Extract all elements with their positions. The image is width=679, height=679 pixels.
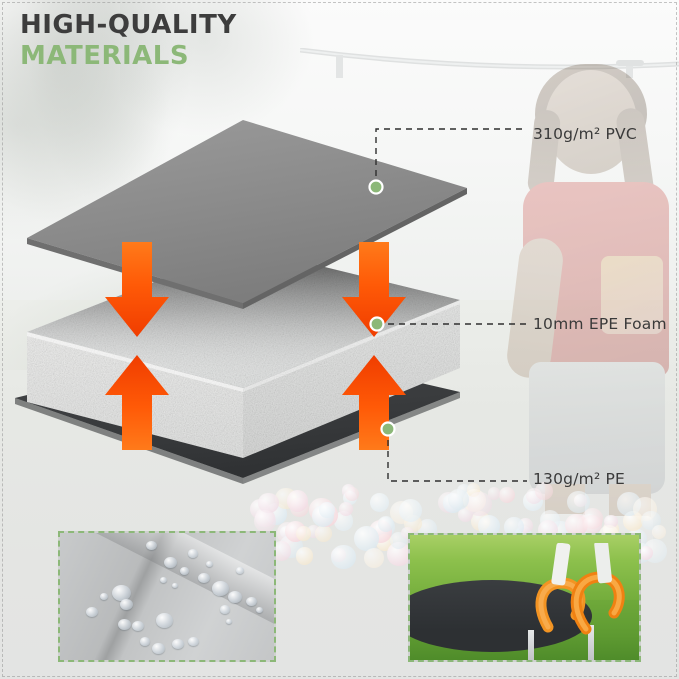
water-droplet	[220, 605, 230, 614]
ball	[652, 525, 666, 539]
ball	[296, 547, 313, 564]
water-droplet	[212, 581, 229, 596]
ball	[331, 545, 355, 569]
water-droplet	[188, 549, 198, 558]
exploded-layer-diagram	[0, 110, 500, 530]
layer-pvc	[27, 120, 467, 309]
title-line-2: MATERIALS	[20, 40, 237, 72]
water-droplet	[180, 567, 189, 575]
water-droplet	[160, 577, 167, 583]
water-droplet	[156, 613, 173, 628]
orange-safety-straps	[528, 543, 638, 635]
water-droplet	[100, 593, 108, 600]
inset-trampoline-grass	[408, 533, 641, 662]
callout-label-pe: 130g/m² PE	[533, 470, 625, 488]
water-droplet	[256, 607, 263, 613]
title-line-1: HIGH-QUALITY	[20, 10, 237, 40]
product-feature-poster: HIGH-QUALITY MATERIALS	[0, 0, 679, 679]
callout-label-pvc: 310g/m² PVC	[533, 125, 637, 143]
ball	[499, 487, 515, 503]
water-droplet	[140, 637, 150, 646]
trampoline-scene	[410, 535, 639, 660]
water-droplet	[206, 561, 213, 567]
poster-title: HIGH-QUALITY MATERIALS	[20, 10, 237, 72]
callout-label-foam: 10mm EPE Foam	[533, 315, 667, 333]
water-droplet	[236, 567, 244, 574]
water-droplet	[228, 591, 242, 603]
inset-waterproof-fabric	[58, 531, 276, 662]
